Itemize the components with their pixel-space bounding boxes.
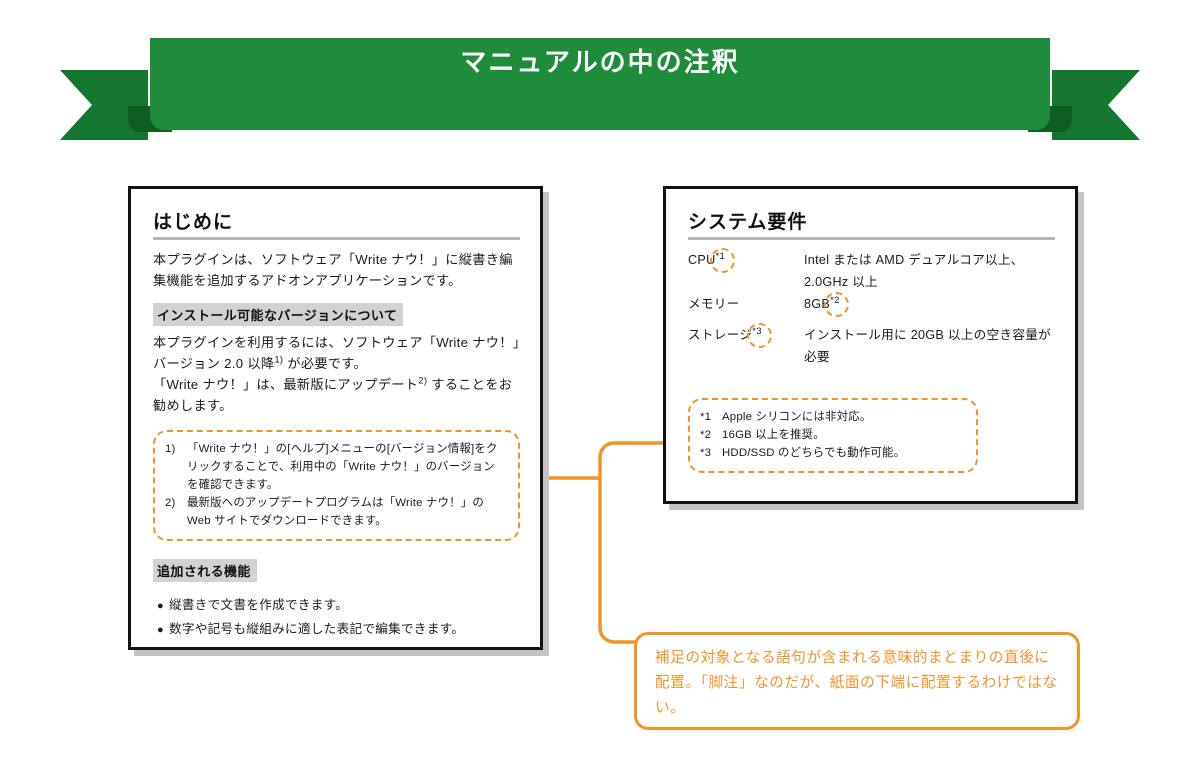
footnote-number: *1 [700, 408, 722, 426]
document-panel-requirements: システム要件 CPU*1 Intel または AMD デュアルコア以上、2.0G… [663, 186, 1078, 504]
footnote-item: 2) 最新版へのアップデートプログラムは「Write ナウ！」の Web サイト… [165, 494, 506, 530]
footnote-number: 2) [165, 494, 187, 530]
spec-value: Intel または AMD デュアルコア以上、2.0GHz 以上 [804, 249, 1055, 293]
requirements-heading: システム要件 [688, 207, 1055, 234]
spec-row-memory: メモリー 8GB*2 [688, 293, 1055, 315]
footnote-item: 1) 「Write ナウ！」の[ヘルプ]メニューの[バージョン情報]をクリックす… [165, 440, 506, 494]
footnote-box-intro: 1) 「Write ナウ！」の[ヘルプ]メニューの[バージョン情報]をクリックす… [153, 430, 520, 541]
callout-text: 補足の対象となる語句が含まれる意味的まとまりの直後に配置。「脚注」なのだが、紙面… [655, 646, 1061, 721]
footnote-item: *2 16GB 以上を推奨。 [700, 426, 964, 444]
spec-row-cpu: CPU*1 Intel または AMD デュアルコア以上、2.0GHz 以上 [688, 249, 1055, 293]
spec-row-storage: ストレージ*3 インストール用に 20GB 以上の空き容量が必要 [688, 324, 1055, 368]
features-subheading: 追加される機能 [153, 559, 257, 582]
spec-label-text: CPU [688, 253, 716, 267]
explanation-callout: 補足の対象となる語句が含まれる意味的まとまりの直後に配置。「脚注」なのだが、紙面… [634, 632, 1080, 730]
annotation-marker-text: *1 [716, 251, 726, 262]
spec-label: ストレージ*3 [688, 324, 804, 368]
footnote-text: Apple シリコンには非対応。 [722, 408, 964, 426]
footnote-item: *3 HDD/SSD のどちらでも動作可能。 [700, 444, 964, 462]
intro-heading: はじめに [153, 207, 520, 234]
spec-spacer [688, 315, 1055, 324]
spec-value: 8GB*2 [804, 293, 1055, 315]
footnote-number: *3 [700, 444, 722, 462]
document-panel-intro: はじめに 本プラグインは、ソフトウェア「Write ナウ！」に縦書き編集機能を追… [128, 186, 543, 650]
footnote-marker-2: 2) [418, 376, 427, 387]
footnote-text: HDD/SSD のどちらでも動作可能。 [722, 444, 964, 462]
requirements-heading-rule [688, 237, 1055, 240]
spec-value-text: 8GB [804, 297, 830, 311]
banner-title: マニュアルの中の注釈 [0, 44, 1200, 80]
spec-label: メモリー [688, 293, 804, 315]
spec-label: CPU*1 [688, 249, 804, 293]
footnote-box-requirements: *1 Apple シリコンには非対応。 *2 16GB 以上を推奨。 *3 HD… [688, 398, 978, 473]
footnote-text: 最新版へのアップデートプログラムは「Write ナウ！」の Web サイトでダウ… [187, 494, 506, 530]
intro-version-paragraph: 本プラグインを利用するには、ソフトウェア「Write ナウ！」バージョン 2.0… [153, 332, 520, 416]
footnote-item: *1 Apple シリコンには非対応。 [700, 408, 964, 426]
footnote-text: 「Write ナウ！」の[ヘルプ]メニューの[バージョン情報]をクリックすること… [187, 440, 506, 494]
footnote-number: *2 [700, 426, 722, 444]
intro-subheading: インストール可能なバージョンについて [153, 303, 403, 326]
list-item: 縦書きで文書を作成できます。 [153, 594, 520, 618]
update-text-a: 「Write ナウ！」は、最新版にアップデート [153, 377, 418, 392]
spec-value: インストール用に 20GB 以上の空き容量が必要 [804, 324, 1055, 368]
annotation-marker-text: *2 [830, 295, 840, 306]
features-list: 縦書きで文書を作成できます。 数字や記号も縦組みに適した表記で編集できます。 [153, 594, 520, 642]
intro-heading-rule [153, 237, 520, 240]
footnote-number: 1) [165, 440, 187, 494]
footnote-text: 16GB 以上を推奨。 [722, 426, 964, 444]
annotation-marker-text: *3 [752, 326, 762, 337]
spec-label-text: ストレージ [688, 328, 752, 342]
version-text-b: が必要です。 [283, 356, 367, 371]
intro-paragraph: 本プラグインは、ソフトウェア「Write ナウ！」に縦書き編集機能を追加するアド… [153, 249, 520, 291]
connector-trunk [600, 443, 668, 642]
list-item: 数字や記号も縦組みに適した表記で編集できます。 [153, 618, 520, 642]
